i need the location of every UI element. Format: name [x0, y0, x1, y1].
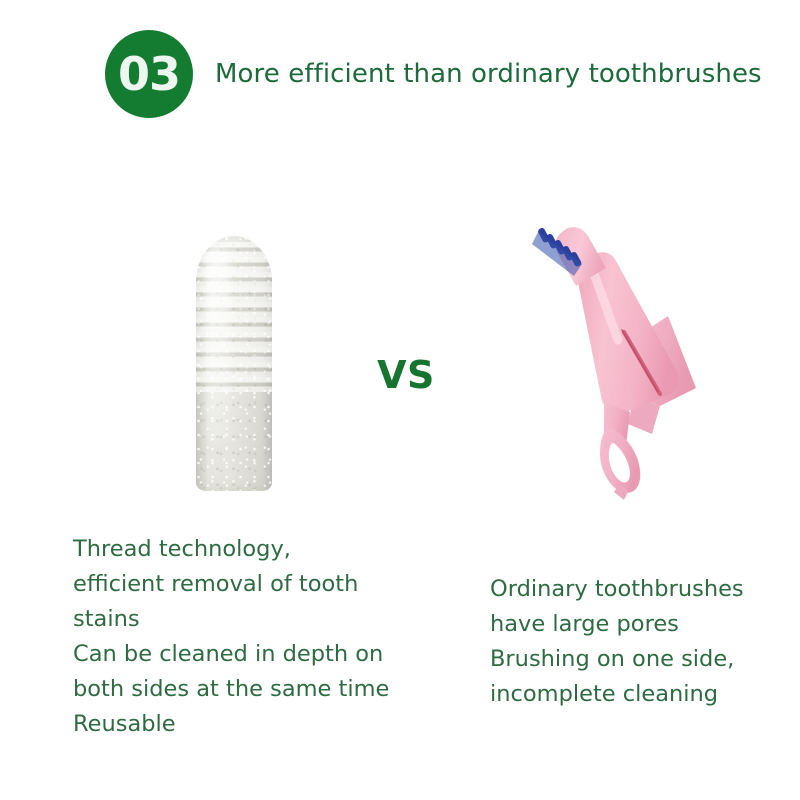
caption-line: efficient removal of tooth	[73, 567, 389, 602]
highlight-overlay	[206, 246, 228, 446]
ordinary-toothbrush-image	[500, 220, 720, 500]
step-number-badge: 03	[105, 30, 193, 118]
caption-line: Reusable	[73, 707, 389, 742]
page-title: More efficient than ordinary toothbrushe…	[215, 59, 762, 89]
caption-line: have large pores	[490, 607, 744, 642]
infographic-page: 03 More efficient than ordinary toothbru…	[0, 0, 800, 800]
toothbrush-loop-handle	[600, 428, 640, 500]
caption-line: incomplete cleaning	[490, 677, 744, 712]
caption-line: Ordinary toothbrushes	[490, 572, 744, 607]
section-header: 03 More efficient than ordinary toothbru…	[105, 30, 762, 118]
caption-line: both sides at the same time	[73, 672, 389, 707]
step-number-label: 03	[118, 51, 180, 97]
comparison-stage: VS	[0, 200, 800, 520]
caption-line: Brushing on one side,	[490, 642, 744, 677]
left-product-caption: Thread technology, efficient removal of …	[73, 532, 389, 742]
caption-line: stains	[73, 602, 389, 637]
caption-line: Thread technology,	[73, 532, 389, 567]
right-product-caption: Ordinary toothbrushes have large pores B…	[490, 572, 744, 712]
thread-finger-toothbrush-image	[196, 236, 272, 491]
caption-line: Can be cleaned in depth on	[73, 637, 389, 672]
vs-label: VS	[370, 356, 442, 394]
